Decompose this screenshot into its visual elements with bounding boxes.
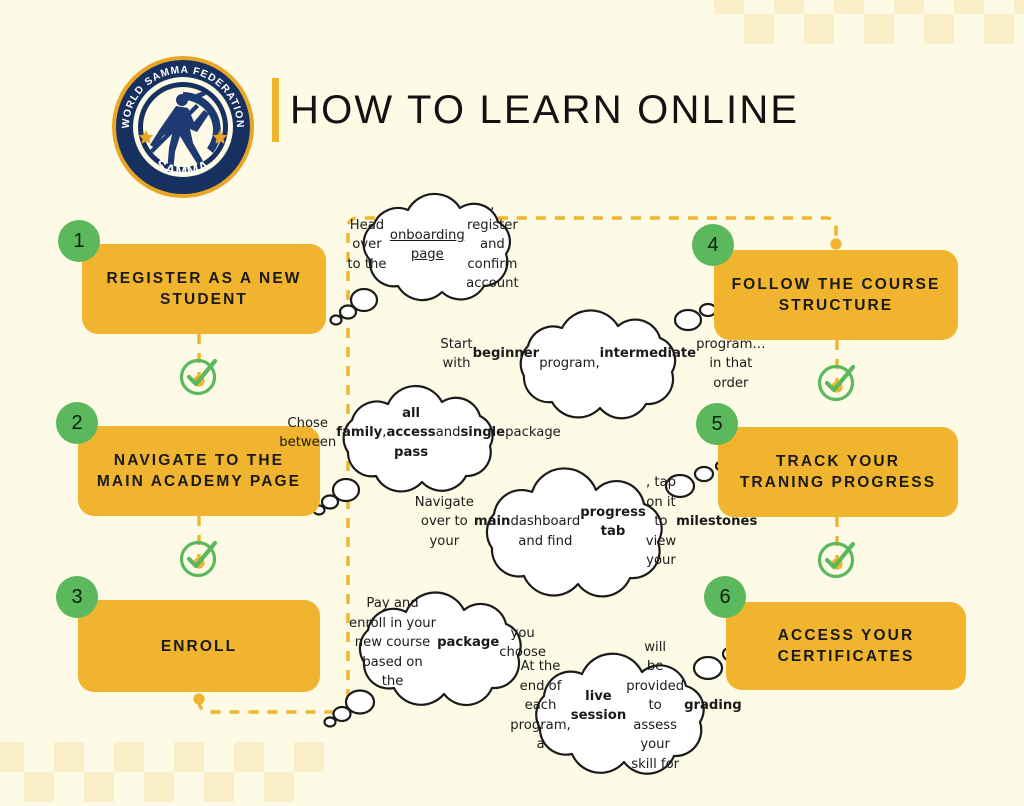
header: WORLD SAMMA FEDERATION SAMMA HOW TO LEAR…	[0, 0, 1024, 200]
step-3-label[interactable]: ENROLL	[78, 600, 320, 692]
step-2-badge: 2	[56, 402, 98, 444]
step-4-badge: 4	[692, 224, 734, 266]
step-3-badge: 3	[56, 576, 98, 618]
infographic-canvas: WORLD SAMMA FEDERATION SAMMA HOW TO LEAR…	[0, 0, 1024, 768]
connector-dot-4	[830, 238, 841, 249]
thought-bubble-5: Navigate over to your maindashboard and …	[458, 470, 714, 574]
check-icon-5-6	[816, 538, 858, 580]
step-5-label[interactable]: TRACK YOUR TRANING PROGRESS	[718, 427, 958, 517]
connector-dot-3	[193, 693, 204, 704]
check-icon-1-2	[178, 355, 220, 397]
step-6-badge: 6	[704, 576, 746, 618]
step-1[interactable]: 1 REGISTER AS A NEW STUDENT	[82, 244, 326, 334]
thought-bubble-2: Chose between family,all access pass and…	[318, 392, 522, 474]
step-5[interactable]: 5 TRACK YOUR TRANING PROGRESS	[718, 427, 958, 517]
thought-bubble-5-text: Navigate over to your maindashboard and …	[458, 470, 714, 574]
thought-bubble-6-text: At the end of eachprogram, a live sessio…	[512, 656, 740, 756]
step-1-label[interactable]: REGISTER AS A NEW STUDENT	[82, 244, 326, 334]
step-1-badge: 1	[58, 220, 100, 262]
step-5-badge: 5	[696, 403, 738, 445]
thought-bubble-2-text: Chose between family,all access pass and…	[318, 392, 522, 474]
thought-bubble-1: Head over to theonboarding page,register…	[330, 196, 534, 294]
page-title: HOW TO LEARN ONLINE	[290, 80, 799, 140]
check-icon-4-5	[816, 361, 858, 403]
thought-bubble-6: At the end of eachprogram, a live sessio…	[512, 656, 740, 756]
title-accent-bar	[272, 78, 279, 142]
step-6[interactable]: 6 ACCESS YOUR CERTIFICATES	[726, 602, 966, 690]
samma-logo: WORLD SAMMA FEDERATION SAMMA	[110, 54, 256, 200]
thought-bubble-1-text: Head over to theonboarding page,register…	[330, 196, 534, 294]
check-icon-2-3	[178, 537, 220, 579]
thought-bubble-4-text: Start with beginnerprogram, intermediate…	[492, 310, 714, 398]
step-6-label[interactable]: ACCESS YOUR CERTIFICATES	[726, 602, 966, 690]
connector-3-to-loop	[199, 700, 348, 712]
step-3[interactable]: 3 ENROLL	[78, 600, 320, 692]
thought-bubble-4: Start with beginnerprogram, intermediate…	[492, 310, 714, 398]
